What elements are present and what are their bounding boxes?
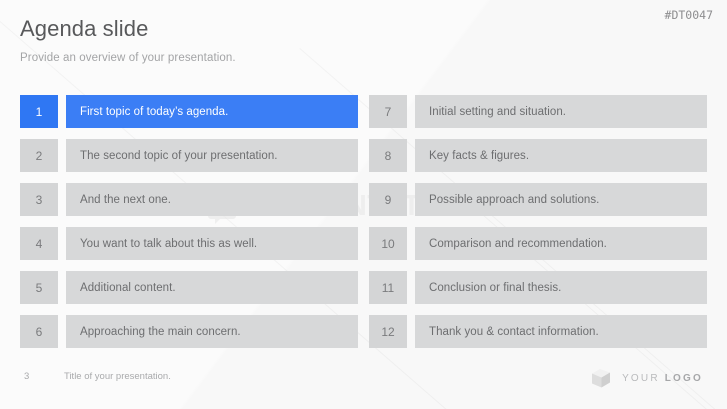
agenda-item[interactable]: 3And the next one. [20,183,358,216]
agenda-item[interactable]: 8Key facts & figures. [369,139,707,172]
agenda-item-label: Comparison and recommendation. [415,227,707,260]
agenda-item[interactable]: 6Approaching the main concern. [20,315,358,348]
agenda-item-number: 4 [20,227,58,260]
logo-word-1: YOUR [622,373,660,384]
agenda-item[interactable]: 12Thank you & contact information. [369,315,707,348]
agenda-item-label: The second topic of your presentation. [66,139,358,172]
agenda-item-number: 12 [369,315,407,348]
agenda-item[interactable]: 2The second topic of your presentation. [20,139,358,172]
agenda-item-label: Possible approach and solutions. [415,183,707,216]
agenda-list: 1First topic of today’s agenda.7Initial … [20,95,707,348]
agenda-item-label: And the next one. [66,183,358,216]
agenda-item-number: 5 [20,271,58,304]
page-title: Agenda slide [20,16,148,42]
agenda-item[interactable]: 4You want to talk about this as well. [20,227,358,260]
agenda-item-number: 2 [20,139,58,172]
agenda-item-number: 7 [369,95,407,128]
footer-divider [0,358,727,359]
agenda-item-number: 9 [369,183,407,216]
agenda-item-number: 11 [369,271,407,304]
agenda-item[interactable]: 7Initial setting and situation. [369,95,707,128]
agenda-item-label: Approaching the main concern. [66,315,358,348]
agenda-item-label: Thank you & contact information. [415,315,707,348]
agenda-item-number: 10 [369,227,407,260]
agenda-item-number: 8 [369,139,407,172]
logo: YOUR LOGO [589,366,703,390]
agenda-item[interactable]: 10Comparison and recommendation. [369,227,707,260]
agenda-item-label: Initial setting and situation. [415,95,707,128]
page-subtitle: Provide an overview of your presentation… [20,52,236,64]
agenda-item-number: 1 [20,95,58,128]
agenda-item-label: First topic of today’s agenda. [66,95,358,128]
footer-presentation-title: Title of your presentation. [64,371,171,382]
agenda-item[interactable]: 1First topic of today’s agenda. [20,95,358,128]
logo-word-2: LOGO [665,373,703,384]
agenda-item-number: 6 [20,315,58,348]
agenda-item-label: Additional content. [66,271,358,304]
document-code: #DT0047 [665,8,713,22]
agenda-item[interactable]: 5Additional content. [20,271,358,304]
agenda-slide: #DT0047 Agenda slide Provide an overview… [0,0,727,409]
agenda-item-label: You want to talk about this as well. [66,227,358,260]
agenda-item-number: 3 [20,183,58,216]
footer-page-number: 3 [24,371,29,382]
agenda-item-label: Key facts & figures. [415,139,707,172]
agenda-item[interactable]: 9Possible approach and solutions. [369,183,707,216]
logo-text: YOUR LOGO [622,373,703,384]
cube-icon [589,366,613,390]
agenda-item-label: Conclusion or final thesis. [415,271,707,304]
agenda-item[interactable]: 11Conclusion or final thesis. [369,271,707,304]
